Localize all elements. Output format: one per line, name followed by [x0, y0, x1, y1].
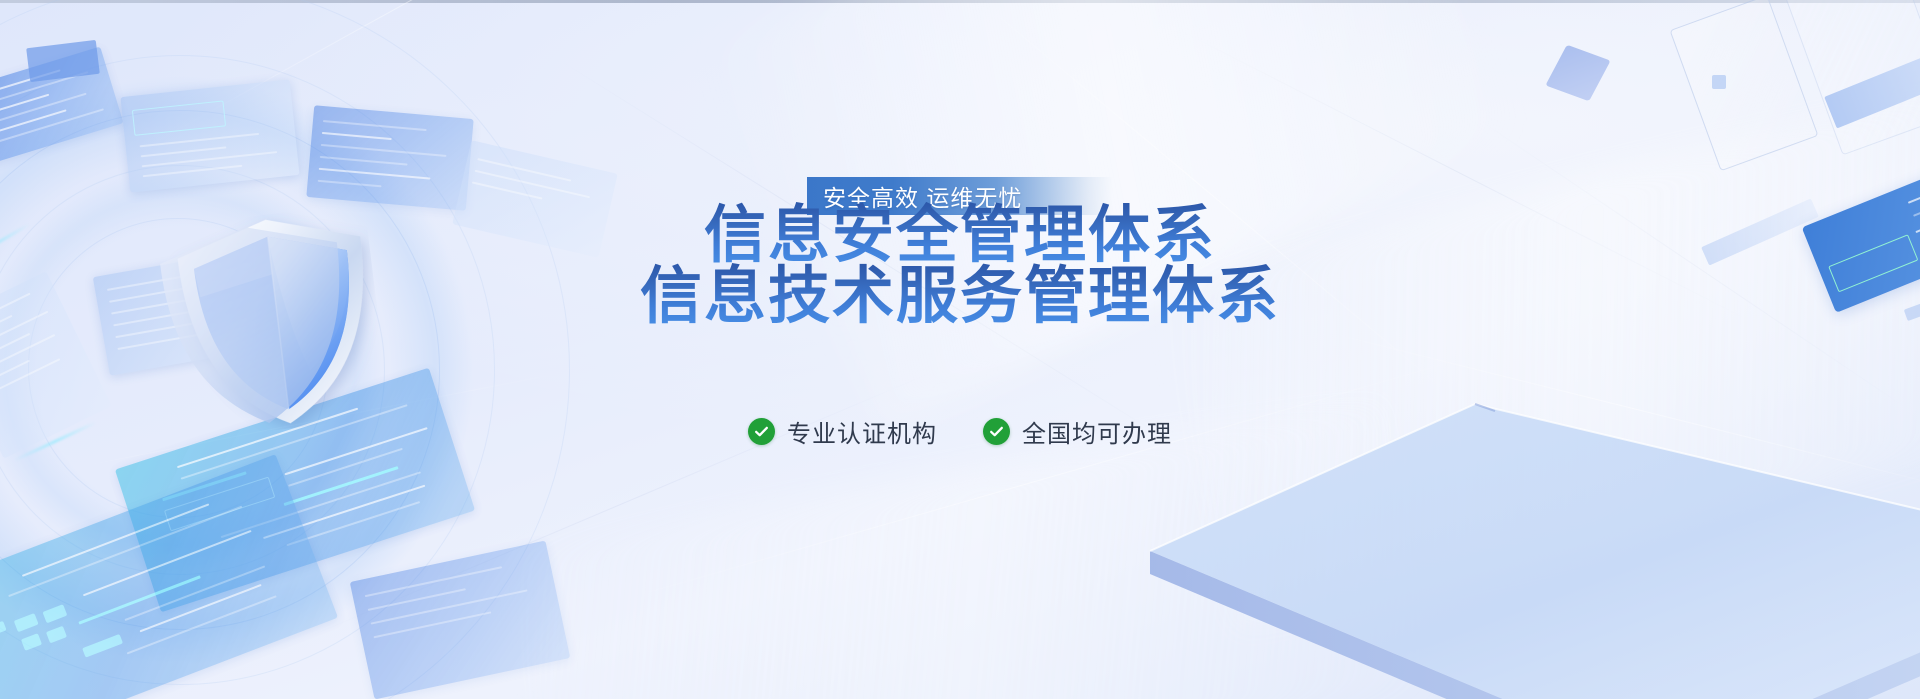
top-hairline	[0, 0, 1920, 3]
check-circle-icon	[748, 418, 775, 445]
promo-banner: 安全高效 运维无忧 信息安全管理体系 信息技术服务管理体系 专业认证机构	[0, 0, 1920, 699]
square-decoration-right	[1712, 75, 1726, 89]
check-circle-icon	[983, 418, 1010, 445]
feature-bullet: 全国均可办理	[983, 414, 1172, 449]
square-decoration-top-left	[26, 40, 100, 82]
glass-slab-decoration	[1140, 359, 1920, 699]
feature-bullet-label: 全国均可办理	[1022, 414, 1172, 449]
feature-bullet-label: 专业认证机构	[787, 414, 937, 449]
feature-bullet: 专业认证机构	[748, 414, 937, 449]
diamond-decoration	[1545, 45, 1610, 102]
headline-line-2: 信息技术服务管理体系	[0, 259, 1920, 335]
feature-bullets: 专业认证机构 全国均可办理	[0, 414, 1920, 449]
